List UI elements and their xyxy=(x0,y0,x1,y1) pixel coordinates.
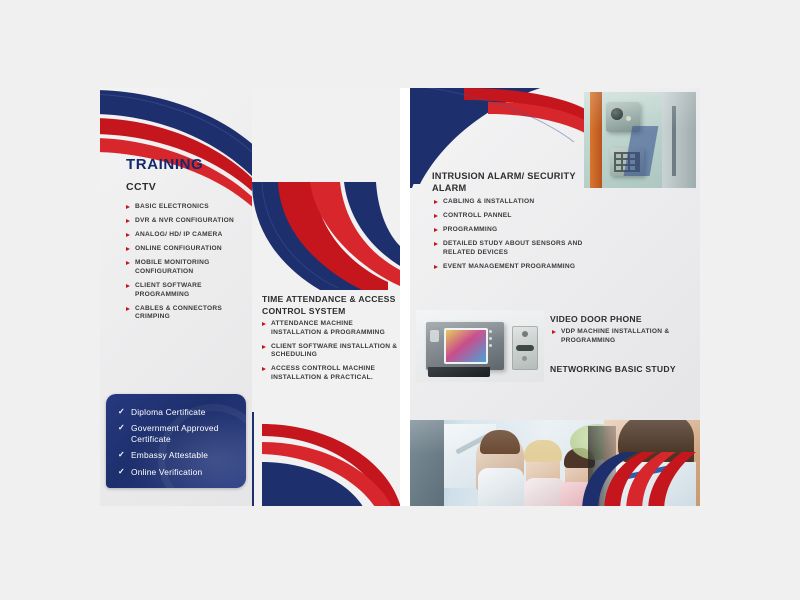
list-item: BASIC ELECTRONICS xyxy=(126,203,244,212)
list-item: Online Verification xyxy=(118,467,236,477)
video-door-phone-heading: VIDEO DOOR PHONE xyxy=(550,314,695,324)
panel-gutter xyxy=(400,88,410,506)
brochure-sheet: TRAINING CCTV BASIC ELECTRONICS DVR & NV… xyxy=(100,88,700,506)
list-item: ATTENDANCE MACHINE INSTALLATION & PROGRA… xyxy=(262,320,400,337)
time-attendance-heading: TIME ATTENDANCE & ACCESS CONTROL SYSTEM xyxy=(262,294,398,317)
video-door-phone-list: VDP MACHINE INSTALLATION & PROGRAMMING xyxy=(552,328,694,351)
networking-heading: NETWORKING BASIC STUDY xyxy=(550,364,700,374)
list-item: Embassy Attestable xyxy=(118,450,236,460)
list-item: VDP MACHINE INSTALLATION & PROGRAMMING xyxy=(552,328,694,345)
middle-swoosh-graphic xyxy=(252,182,400,290)
list-item: CABLING & INSTALLATION xyxy=(434,198,604,207)
list-item: MOBILE MONITORING CONFIGURATION xyxy=(126,259,244,276)
list-item: CLIENT SOFTWARE PROGRAMMING xyxy=(126,282,244,299)
page-title: TRAINING xyxy=(126,156,203,173)
list-item: PROGRAMMING xyxy=(434,226,604,235)
bottom-swoosh-graphic xyxy=(252,412,400,506)
list-item: Government Approved Certificate xyxy=(118,423,236,444)
top-left-swoosh-graphic xyxy=(100,88,252,214)
certificate-box: Diploma Certificate Government Approved … xyxy=(106,394,246,488)
cctv-subheading: CCTV xyxy=(126,181,156,193)
list-item: ACCESS CONTROLL MACHINE INSTALLATION & P… xyxy=(262,365,400,382)
list-item: Diploma Certificate xyxy=(118,407,236,417)
intrusion-list: CABLING & INSTALLATION CONTROLL PANNEL P… xyxy=(434,198,604,277)
certificate-list: Diploma Certificate Government Approved … xyxy=(106,394,246,477)
list-item: ONLINE CONFIGURATION xyxy=(126,245,244,254)
list-item: EVENT MANAGEMENT PROGRAMMING xyxy=(434,263,604,272)
list-item: CONTROLL PANNEL xyxy=(434,212,604,221)
list-item: CLIENT SOFTWARE INSTALLATION & SCHEDULIN… xyxy=(262,343,400,360)
brochure-canvas: TRAINING CCTV BASIC ELECTRONICS DVR & NV… xyxy=(0,0,800,600)
intrusion-heading: INTRUSION ALARM/ SECURITY ALARM xyxy=(432,170,612,194)
right-panel: INTRUSION ALARM/ SECURITY ALARM CABLING … xyxy=(410,88,700,506)
list-item: ANALOG/ HD/ IP CAMERA xyxy=(126,231,244,240)
time-attendance-list: ATTENDANCE MACHINE INSTALLATION & PROGRA… xyxy=(262,320,400,388)
right-bottom-swoosh-graphic xyxy=(576,452,700,506)
left-text-column: TRAINING CCTV BASIC ELECTRONICS DVR & NV… xyxy=(100,88,252,506)
cctv-list: BASIC ELECTRONICS DVR & NVR CONFIGURATIO… xyxy=(126,203,244,327)
left-panel: TRAINING CCTV BASIC ELECTRONICS DVR & NV… xyxy=(100,88,400,506)
list-item: CABLES & CONNECTORS CRIMPING xyxy=(126,305,244,322)
list-item: DETAILED STUDY ABOUT SENSORS AND RELATED… xyxy=(434,240,604,257)
video-door-phone-photo xyxy=(416,310,544,382)
left-media-column: TIME ATTENDANCE & ACCESS CONTROL SYSTEM … xyxy=(252,88,400,506)
list-item: DVR & NVR CONFIGURATION xyxy=(126,217,244,226)
